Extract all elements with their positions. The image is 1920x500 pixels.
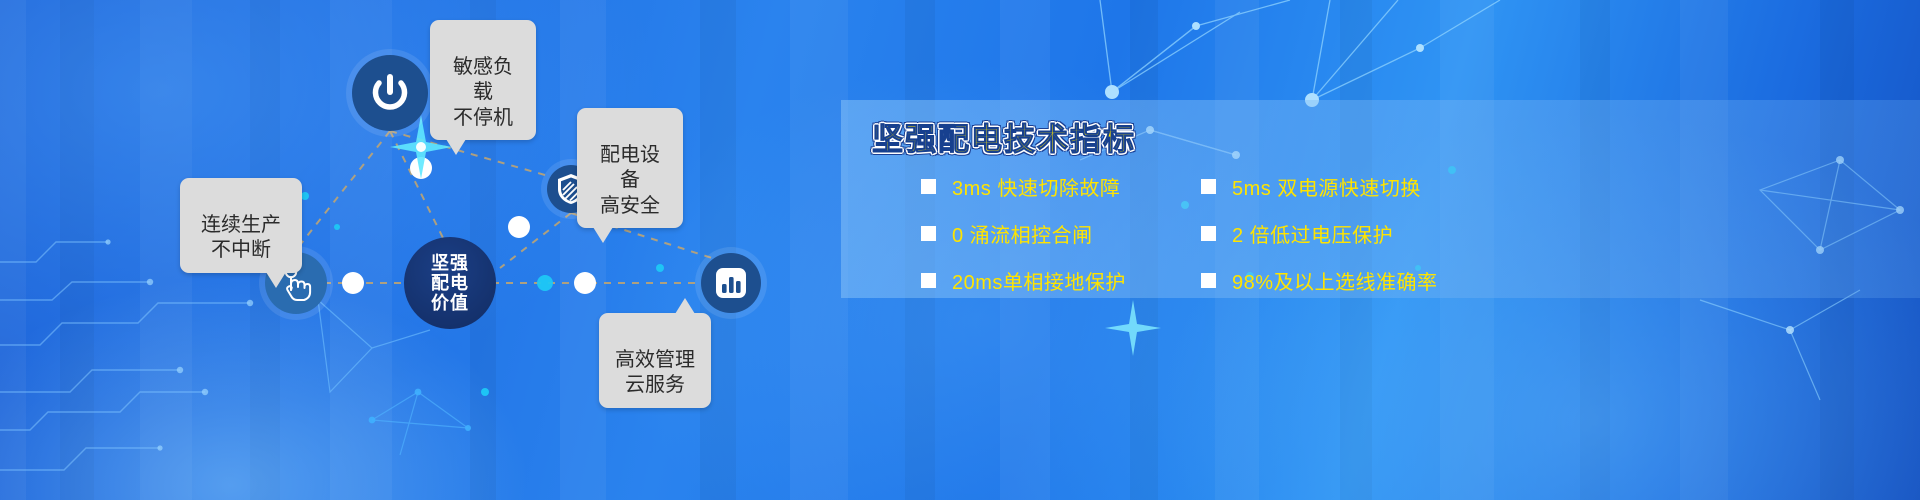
spec-item-6-text: 98%及以上选线准确率 <box>1232 266 1438 295</box>
spec-item-1[interactable]: 3ms 快速切除故障 <box>921 172 1201 201</box>
square-bullet-icon <box>921 226 936 241</box>
power-node[interactable] <box>352 55 428 131</box>
callout-continuous-production[interactable]: 连续生产 不中断 <box>180 178 302 273</box>
callout-continuous-production-text: 连续生产 不中断 <box>201 214 281 262</box>
spec-item-4-text: 5ms 双电源快速切换 <box>1232 172 1421 201</box>
callout-cloud-service[interactable]: 高效管理 云服务 <box>599 313 711 408</box>
spec-item-4[interactable]: 5ms 双电源快速切换 <box>1201 172 1501 201</box>
spec-panel-title: 坚强配电技术指标 <box>872 114 1136 159</box>
square-bullet-icon <box>1201 179 1216 194</box>
square-bullet-icon <box>1201 226 1216 241</box>
callout-cloud-service-text: 高效管理 云服务 <box>615 349 695 397</box>
callout-sensitive-load[interactable]: 敏感负载 不停机 <box>430 20 536 140</box>
spec-item-2-text: 0 涌流相控合闸 <box>952 219 1093 248</box>
spec-panel: 坚强配电技术指标 3ms 快速切除故障 5ms 双电源快速切换 0 涌流相控合闸… <box>841 100 1920 298</box>
center-hub-node[interactable]: 坚强 配电 价值 <box>404 237 496 329</box>
callout-sensitive-load-text: 敏感负载 不停机 <box>453 56 513 129</box>
spec-item-6[interactable]: 98%及以上选线准确率 <box>1201 266 1501 295</box>
banner-root: 坚强 配电 价值 敏感负载 不停机 配电设备 高安全 连续生产 不中断 高效管理… <box>0 0 1920 500</box>
spec-item-5[interactable]: 2 倍低过电压保护 <box>1201 219 1501 248</box>
sparkle-icon-2 <box>1105 300 1161 356</box>
spec-item-3-text: 20ms单相接地保护 <box>952 266 1126 295</box>
spec-list: 3ms 快速切除故障 5ms 双电源快速切换 0 涌流相控合闸 2 倍低过电压保… <box>921 172 1881 295</box>
callout-equipment-safety-text: 配电设备 高安全 <box>600 144 660 217</box>
square-bullet-icon <box>921 273 936 288</box>
square-bullet-icon <box>921 179 936 194</box>
spec-item-5-text: 2 倍低过电压保护 <box>1232 219 1393 248</box>
center-hub-label: 坚强 配电 价值 <box>431 253 469 313</box>
spec-item-3[interactable]: 20ms单相接地保护 <box>921 266 1201 295</box>
callout-equipment-safety[interactable]: 配电设备 高安全 <box>577 108 683 228</box>
square-bullet-icon <box>1201 273 1216 288</box>
power-icon <box>368 71 412 115</box>
chart-node[interactable] <box>701 253 761 313</box>
bar-chart-icon <box>714 266 748 300</box>
spec-item-1-text: 3ms 快速切除故障 <box>952 172 1120 201</box>
spec-item-2[interactable]: 0 涌流相控合闸 <box>921 219 1201 248</box>
